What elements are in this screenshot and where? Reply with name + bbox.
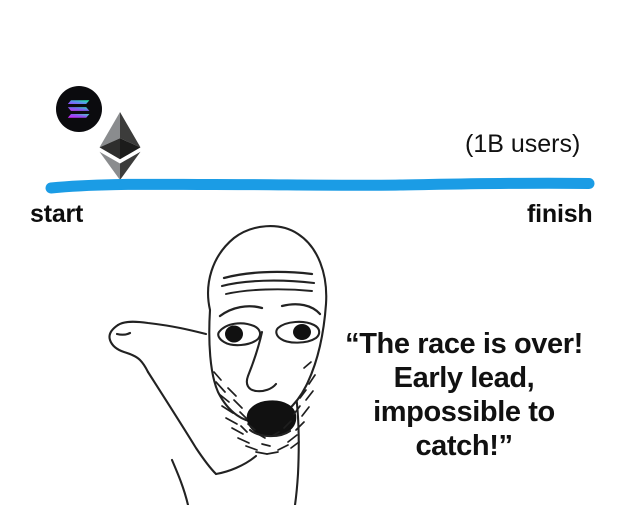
quote-line-1: “The race is over! <box>316 328 612 362</box>
hand-outline <box>109 325 148 372</box>
meme-canvas: start finish (1B users) <box>0 0 621 505</box>
shoulder-line <box>216 456 256 474</box>
track-finish-label: finish <box>527 200 592 229</box>
arm-lower-edge <box>148 372 216 474</box>
race-track-svg <box>40 166 600 200</box>
finger-notch <box>117 333 130 335</box>
quote-text-block: “The race is over! Early lead, impossibl… <box>316 328 612 464</box>
solana-logo-bars <box>68 100 90 118</box>
soyjak-pointing-figure <box>86 222 336 505</box>
finish-annotation-label: (1B users) <box>465 130 580 159</box>
race-track-stroke <box>51 183 589 188</box>
torso-left-outline <box>172 460 188 505</box>
quote-line-3: impossible to <box>316 396 612 430</box>
solana-logo <box>56 86 102 132</box>
race-track-line <box>40 166 600 200</box>
quote-line-2: Early lead, <box>316 362 612 396</box>
quote-line-4: catch!” <box>316 430 612 464</box>
eye-right-pupil <box>293 324 311 340</box>
eye-left-pupil <box>225 326 243 343</box>
soyjak-svg <box>86 222 336 505</box>
solana-logo-svg <box>56 86 102 132</box>
arm-upper-edge <box>118 322 206 334</box>
track-start-label: start <box>30 200 83 229</box>
